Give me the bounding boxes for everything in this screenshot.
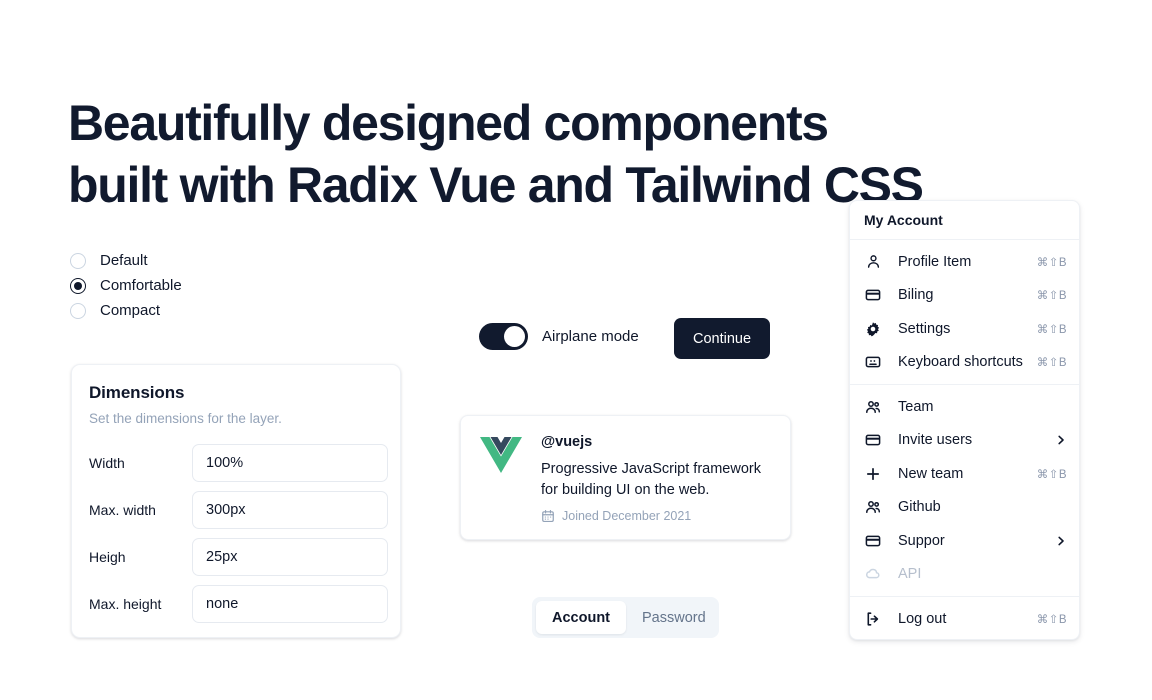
vuejs-joined-text: Joined December 2021 (562, 509, 691, 523)
menu-item-billing-label: Biling (898, 287, 1037, 303)
input-max-width[interactable] (192, 491, 388, 529)
vuejs-joined-row: Joined December 2021 (541, 509, 781, 523)
menu-item-billing-shortcut: ⌘⇧B (1037, 288, 1067, 302)
menu-item-log-out-shortcut: ⌘⇧B (1037, 612, 1067, 626)
logout-icon (864, 610, 882, 628)
radio-indicator-compact[interactable] (70, 303, 86, 319)
label-height: Heigh (89, 549, 192, 565)
menu-item-keyboard-shortcuts[interactable]: Keyboard shortcuts ⌘⇧B (850, 346, 1079, 380)
radio-option-default[interactable]: Default (70, 248, 182, 273)
input-height[interactable] (192, 538, 388, 576)
field-row-height: Heigh (89, 538, 383, 576)
radio-indicator-comfortable[interactable] (70, 278, 86, 294)
plus-icon (864, 465, 882, 483)
radio-group: Default Comfortable Compact (70, 248, 182, 323)
menu-item-github-label: Github (898, 499, 1067, 515)
airplane-mode-switch[interactable] (479, 323, 528, 350)
field-row-width: Width (89, 444, 383, 482)
menu-item-new-team-label: New team (898, 466, 1037, 482)
menu-item-settings-shortcut: ⌘⇧B (1037, 322, 1067, 336)
field-row-max-width: Max. width (89, 491, 383, 529)
tabs: Account Password (532, 597, 719, 638)
menu-item-api-label: API (898, 566, 1067, 582)
dimensions-title: Dimensions (89, 383, 383, 403)
menu-item-keyboard-shortcuts-shortcut: ⌘⇧B (1037, 355, 1067, 369)
menu-item-profile-label: Profile Item (898, 254, 1037, 270)
input-width[interactable] (192, 444, 388, 482)
menu-item-log-out-label: Log out (898, 611, 1037, 627)
menu-item-profile-shortcut: ⌘⇧B (1037, 255, 1067, 269)
menu-item-log-out[interactable]: Log out ⌘⇧B (850, 602, 1079, 636)
credit-card-icon (864, 286, 882, 304)
input-max-height[interactable] (192, 585, 388, 623)
cloud-icon (864, 565, 882, 583)
field-row-max-height: Max. height (89, 585, 383, 623)
users-icon (864, 398, 882, 416)
calendar-icon (541, 509, 555, 523)
keyboard-icon (864, 353, 882, 371)
menu-item-keyboard-shortcuts-label: Keyboard shortcuts (898, 354, 1037, 370)
radio-label-default: Default (100, 252, 148, 269)
label-max-width: Max. width (89, 502, 192, 518)
menu-item-billing[interactable]: Biling ⌘⇧B (850, 279, 1079, 313)
radio-indicator-default[interactable] (70, 253, 86, 269)
dimensions-subtitle: Set the dimensions for the layer. (89, 411, 383, 426)
vuejs-hover-card: @vuejs Progressive JavaScript framework … (460, 415, 791, 540)
radio-option-comfortable[interactable]: Comfortable (70, 273, 182, 298)
dimensions-fields: Width Max. width Heigh Max. height (89, 444, 383, 623)
vuejs-card-body: @vuejs Progressive JavaScript framework … (541, 434, 781, 539)
airplane-mode-label: Airplane mode (542, 328, 639, 345)
tab-account[interactable]: Account (536, 601, 626, 634)
label-width: Width (89, 455, 192, 471)
airplane-mode-switch-group: Airplane mode (479, 323, 639, 350)
user-icon (864, 253, 882, 271)
chevron-right-icon (1055, 434, 1067, 446)
menu-item-settings[interactable]: Settings ⌘⇧B (850, 312, 1079, 346)
account-dropdown-menu: My Account Profile Item ⌘⇧B Biling ⌘⇧B (849, 200, 1080, 640)
page-title: Beautifully designed components built wi… (68, 92, 1028, 216)
vuejs-handle: @vuejs (541, 434, 781, 450)
users-icon (864, 498, 882, 516)
menu-group-team: Team Invite users N (850, 385, 1079, 596)
menu-item-support-label: Suppor (898, 533, 1055, 549)
gear-icon (864, 320, 882, 338)
menu-item-github[interactable]: Github (850, 491, 1079, 525)
radio-option-compact[interactable]: Compact (70, 298, 182, 323)
menu-item-team-label: Team (898, 399, 1067, 415)
menu-item-new-team-shortcut: ⌘⇧B (1037, 467, 1067, 481)
menu-group-account: Profile Item ⌘⇧B Biling ⌘⇧B Settings ⌘⇧B (850, 240, 1079, 384)
menu-group-session: Log out ⌘⇧B (850, 597, 1079, 640)
tab-password[interactable]: Password (626, 601, 722, 634)
dimensions-card: Dimensions Set the dimensions for the la… (71, 364, 401, 638)
vuejs-description: Progressive JavaScript framework for bui… (541, 459, 781, 501)
vue-logo-icon (480, 434, 524, 539)
menu-item-invite-users-label: Invite users (898, 432, 1055, 448)
menu-header: My Account (850, 201, 1079, 239)
menu-item-new-team[interactable]: New team ⌘⇧B (850, 457, 1079, 491)
menu-item-profile[interactable]: Profile Item ⌘⇧B (850, 245, 1079, 279)
menu-item-settings-label: Settings (898, 321, 1037, 337)
credit-card-icon (864, 431, 882, 449)
label-max-height: Max. height (89, 596, 192, 612)
menu-item-support[interactable]: Suppor (850, 524, 1079, 558)
radio-label-compact: Compact (100, 302, 160, 319)
continue-button[interactable]: Continue (674, 318, 770, 359)
chevron-right-icon (1055, 535, 1067, 547)
menu-item-invite-users[interactable]: Invite users (850, 424, 1079, 458)
menu-item-api: API (850, 558, 1079, 592)
switch-knob (504, 326, 525, 347)
radio-label-comfortable: Comfortable (100, 277, 182, 294)
credit-card-icon (864, 532, 882, 550)
menu-item-team[interactable]: Team (850, 390, 1079, 424)
page-title-line-1: Beautifully designed components (68, 92, 1028, 154)
